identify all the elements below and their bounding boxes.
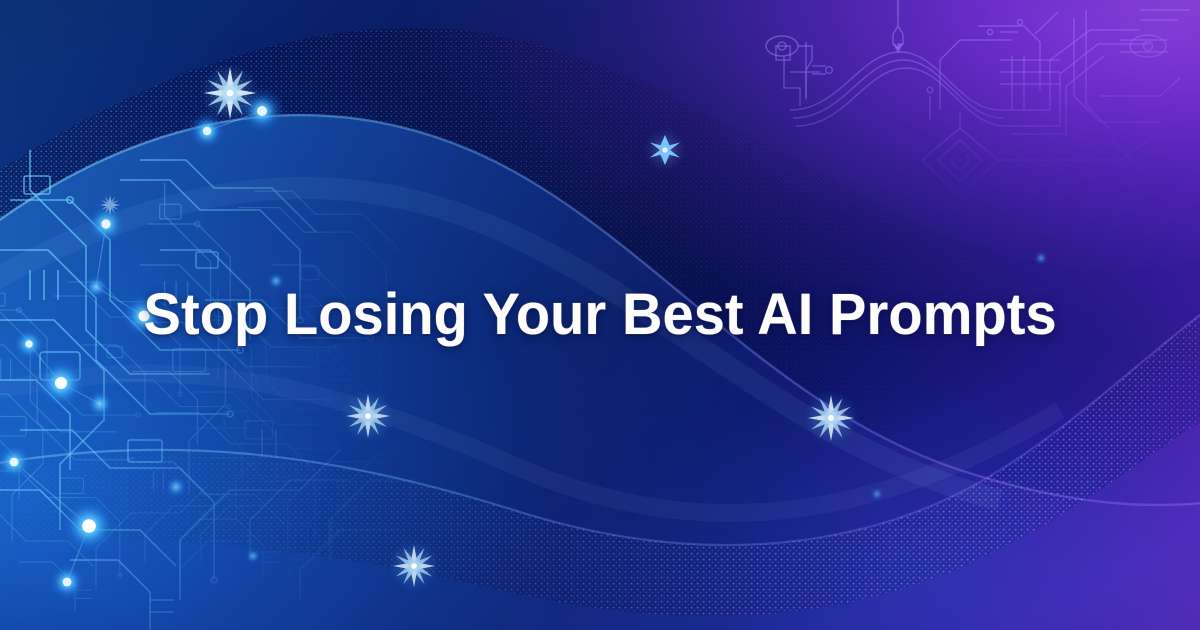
hero-banner: Stop Losing Your Best AI Prompts (0, 0, 1200, 630)
page-title: Stop Losing Your Best AI Prompts (120, 285, 1079, 346)
headline-container: Stop Losing Your Best AI Prompts (0, 0, 1200, 630)
